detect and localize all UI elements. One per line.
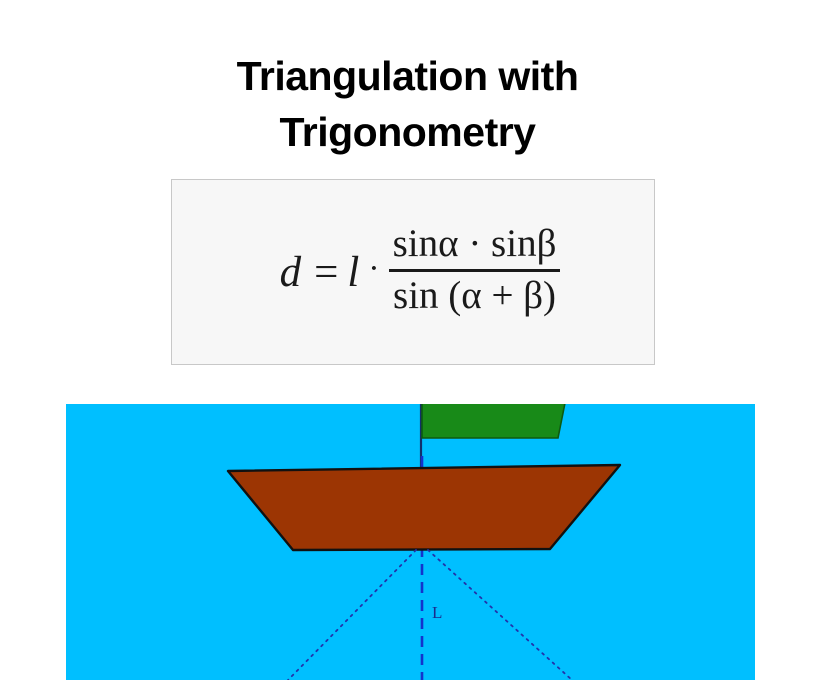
formula-box: d = l · sinα · sinβ sin (α + β): [171, 179, 655, 365]
boat-scene-svg: [66, 404, 755, 680]
formula-multiplication-dot: ·: [359, 250, 388, 288]
baseline-length-label: L: [432, 604, 442, 621]
formula-fraction: sinα · sinβ sin (α + β): [389, 223, 561, 317]
formula-left-variable: d: [280, 251, 306, 294]
formula-equals-sign: =: [305, 248, 347, 297]
formula-fraction-bar: [389, 269, 561, 272]
formula-length-variable: l: [347, 248, 359, 297]
flag-icon: [422, 404, 566, 438]
triangulation-diagram-panel: L: [66, 404, 755, 680]
formula-numerator: sinα · sinβ: [389, 223, 561, 265]
page-title-line-1: Triangulation with: [0, 48, 815, 104]
page-title-line-2: Trigonometry: [0, 104, 815, 160]
boat-hull: [228, 465, 620, 550]
formula-expression: d = l · sinα · sinβ sin (α + β): [172, 180, 654, 364]
page-title: Triangulation with Trigonometry: [0, 48, 815, 160]
formula-denominator: sin (α + β): [389, 275, 560, 317]
